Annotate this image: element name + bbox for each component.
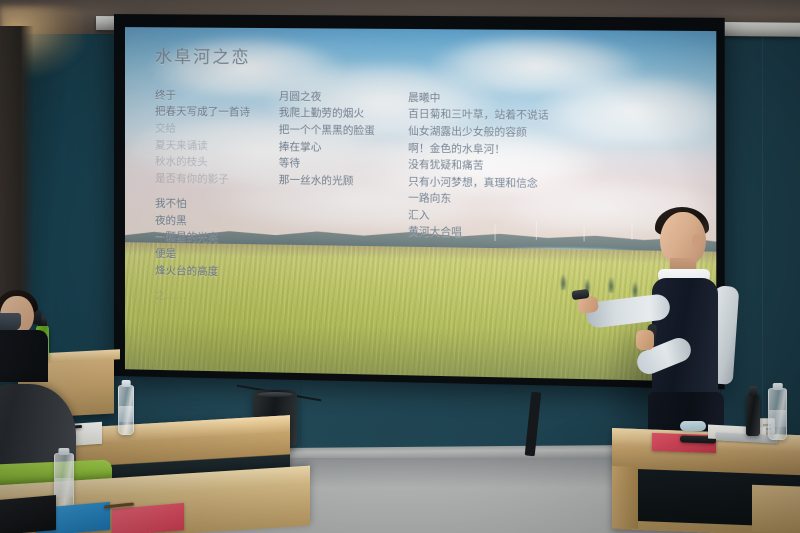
- poem-line: 只有小河梦想，真理和信念: [408, 174, 549, 193]
- poem-line: 交给: [155, 120, 250, 138]
- poem-column-right: 晨曦中 百日菊和三叶草，站着不说话 仙女湖露出少女般的容颜 啊！金色的水阜河！ …: [408, 90, 549, 252]
- poem-line: 便是: [155, 246, 250, 264]
- poem-stanza: 之……: [155, 288, 250, 306]
- poem-line: 一路向东: [408, 190, 549, 209]
- poem-line: 之……: [155, 288, 250, 306]
- poem-line: 汇入: [408, 207, 549, 226]
- black-thermos[interactable]: [746, 394, 760, 436]
- face-mask-on-desk[interactable]: [680, 421, 706, 431]
- poem-line: 那一丝水的光顾: [279, 172, 375, 190]
- poem-line: 百日菊和三叶草，站着不说话: [408, 106, 549, 124]
- poem-line: 月圆之夜: [279, 88, 375, 106]
- poem-line: 秋水的枝头: [155, 154, 250, 172]
- poem-stanza: 我不怕 夜的黑 一颗星的光亮 便是 烽火台的高度: [155, 196, 250, 281]
- poem-line: 啊！金色的水阜河！: [408, 140, 549, 159]
- poem-column-middle: 月圆之夜 我爬上勤劳的烟火 把一个个黑黑的脸蛋 捧在掌心 等待 那一丝水的光顾: [279, 88, 375, 199]
- poem-stanza: 晨曦中 百日菊和三叶草，站着不说话 仙女湖露出少女般的容颜 啊！金色的水阜河！ …: [408, 90, 549, 243]
- water-bottle-left[interactable]: [118, 385, 134, 435]
- seated-person-torso: [0, 330, 48, 382]
- presenter-ear: [692, 234, 701, 247]
- screenshot-root: 水阜河之恋 终于 把春天写成了一首诗 交给 夏天来诵读 秋水的枝头 是否有你的影…: [0, 0, 800, 533]
- poem-line: 黄河大合唱: [408, 224, 549, 243]
- poem-stanza: 终于 把春天写成了一首诗 交给 夏天来诵读 秋水的枝头 是否有你的影子: [155, 87, 250, 188]
- poem-line: 我不怕: [155, 196, 250, 214]
- seated-person-masked: [0, 296, 52, 380]
- pink-folder[interactable]: [112, 503, 184, 533]
- poem-line: 烽火台的高度: [155, 262, 250, 280]
- poem-stanza: 月圆之夜 我爬上勤劳的烟火 把一个个黑黑的脸蛋 捧在掌心 等待 那一丝水的光顾: [279, 88, 375, 189]
- poem-line: 夜的黑: [155, 212, 250, 230]
- poem-line: 夏天来诵读: [155, 137, 250, 155]
- poem-line: 把春天写成了一首诗: [155, 104, 250, 122]
- poem-line: 一颗星的光亮: [155, 229, 250, 247]
- poem-line: 把一个个黑黑的脸蛋: [279, 122, 375, 140]
- room-corner-shadow: [0, 26, 34, 326]
- poem-column-left: 终于 把春天写成了一首诗 交给 夏天来诵读 秋水的枝头 是否有你的影子 我不怕 …: [155, 87, 250, 315]
- poem-line: 是否有你的影子: [155, 170, 250, 188]
- poem-line: 我爬上勤劳的烟火: [279, 105, 375, 123]
- black-bag[interactable]: [0, 495, 56, 533]
- poem-line: 捧在掌心: [279, 138, 375, 156]
- water-bottle-right[interactable]: [768, 388, 787, 440]
- poem-line: 终于: [155, 87, 250, 105]
- poem-line: 等待: [279, 155, 375, 173]
- presenter-hand-right: [636, 330, 654, 350]
- poem-line: 没有犹疑和痛苦: [408, 157, 549, 176]
- poem-line: 晨曦中: [408, 90, 549, 108]
- desk-right-secondary[interactable]: [752, 485, 800, 533]
- poem-line: 仙女湖露出少女般的容颜: [408, 123, 549, 141]
- poem-title: 水阜河之恋: [155, 43, 251, 69]
- water-bottle-foreground[interactable]: [54, 453, 74, 511]
- face-mask-worn: [0, 313, 21, 331]
